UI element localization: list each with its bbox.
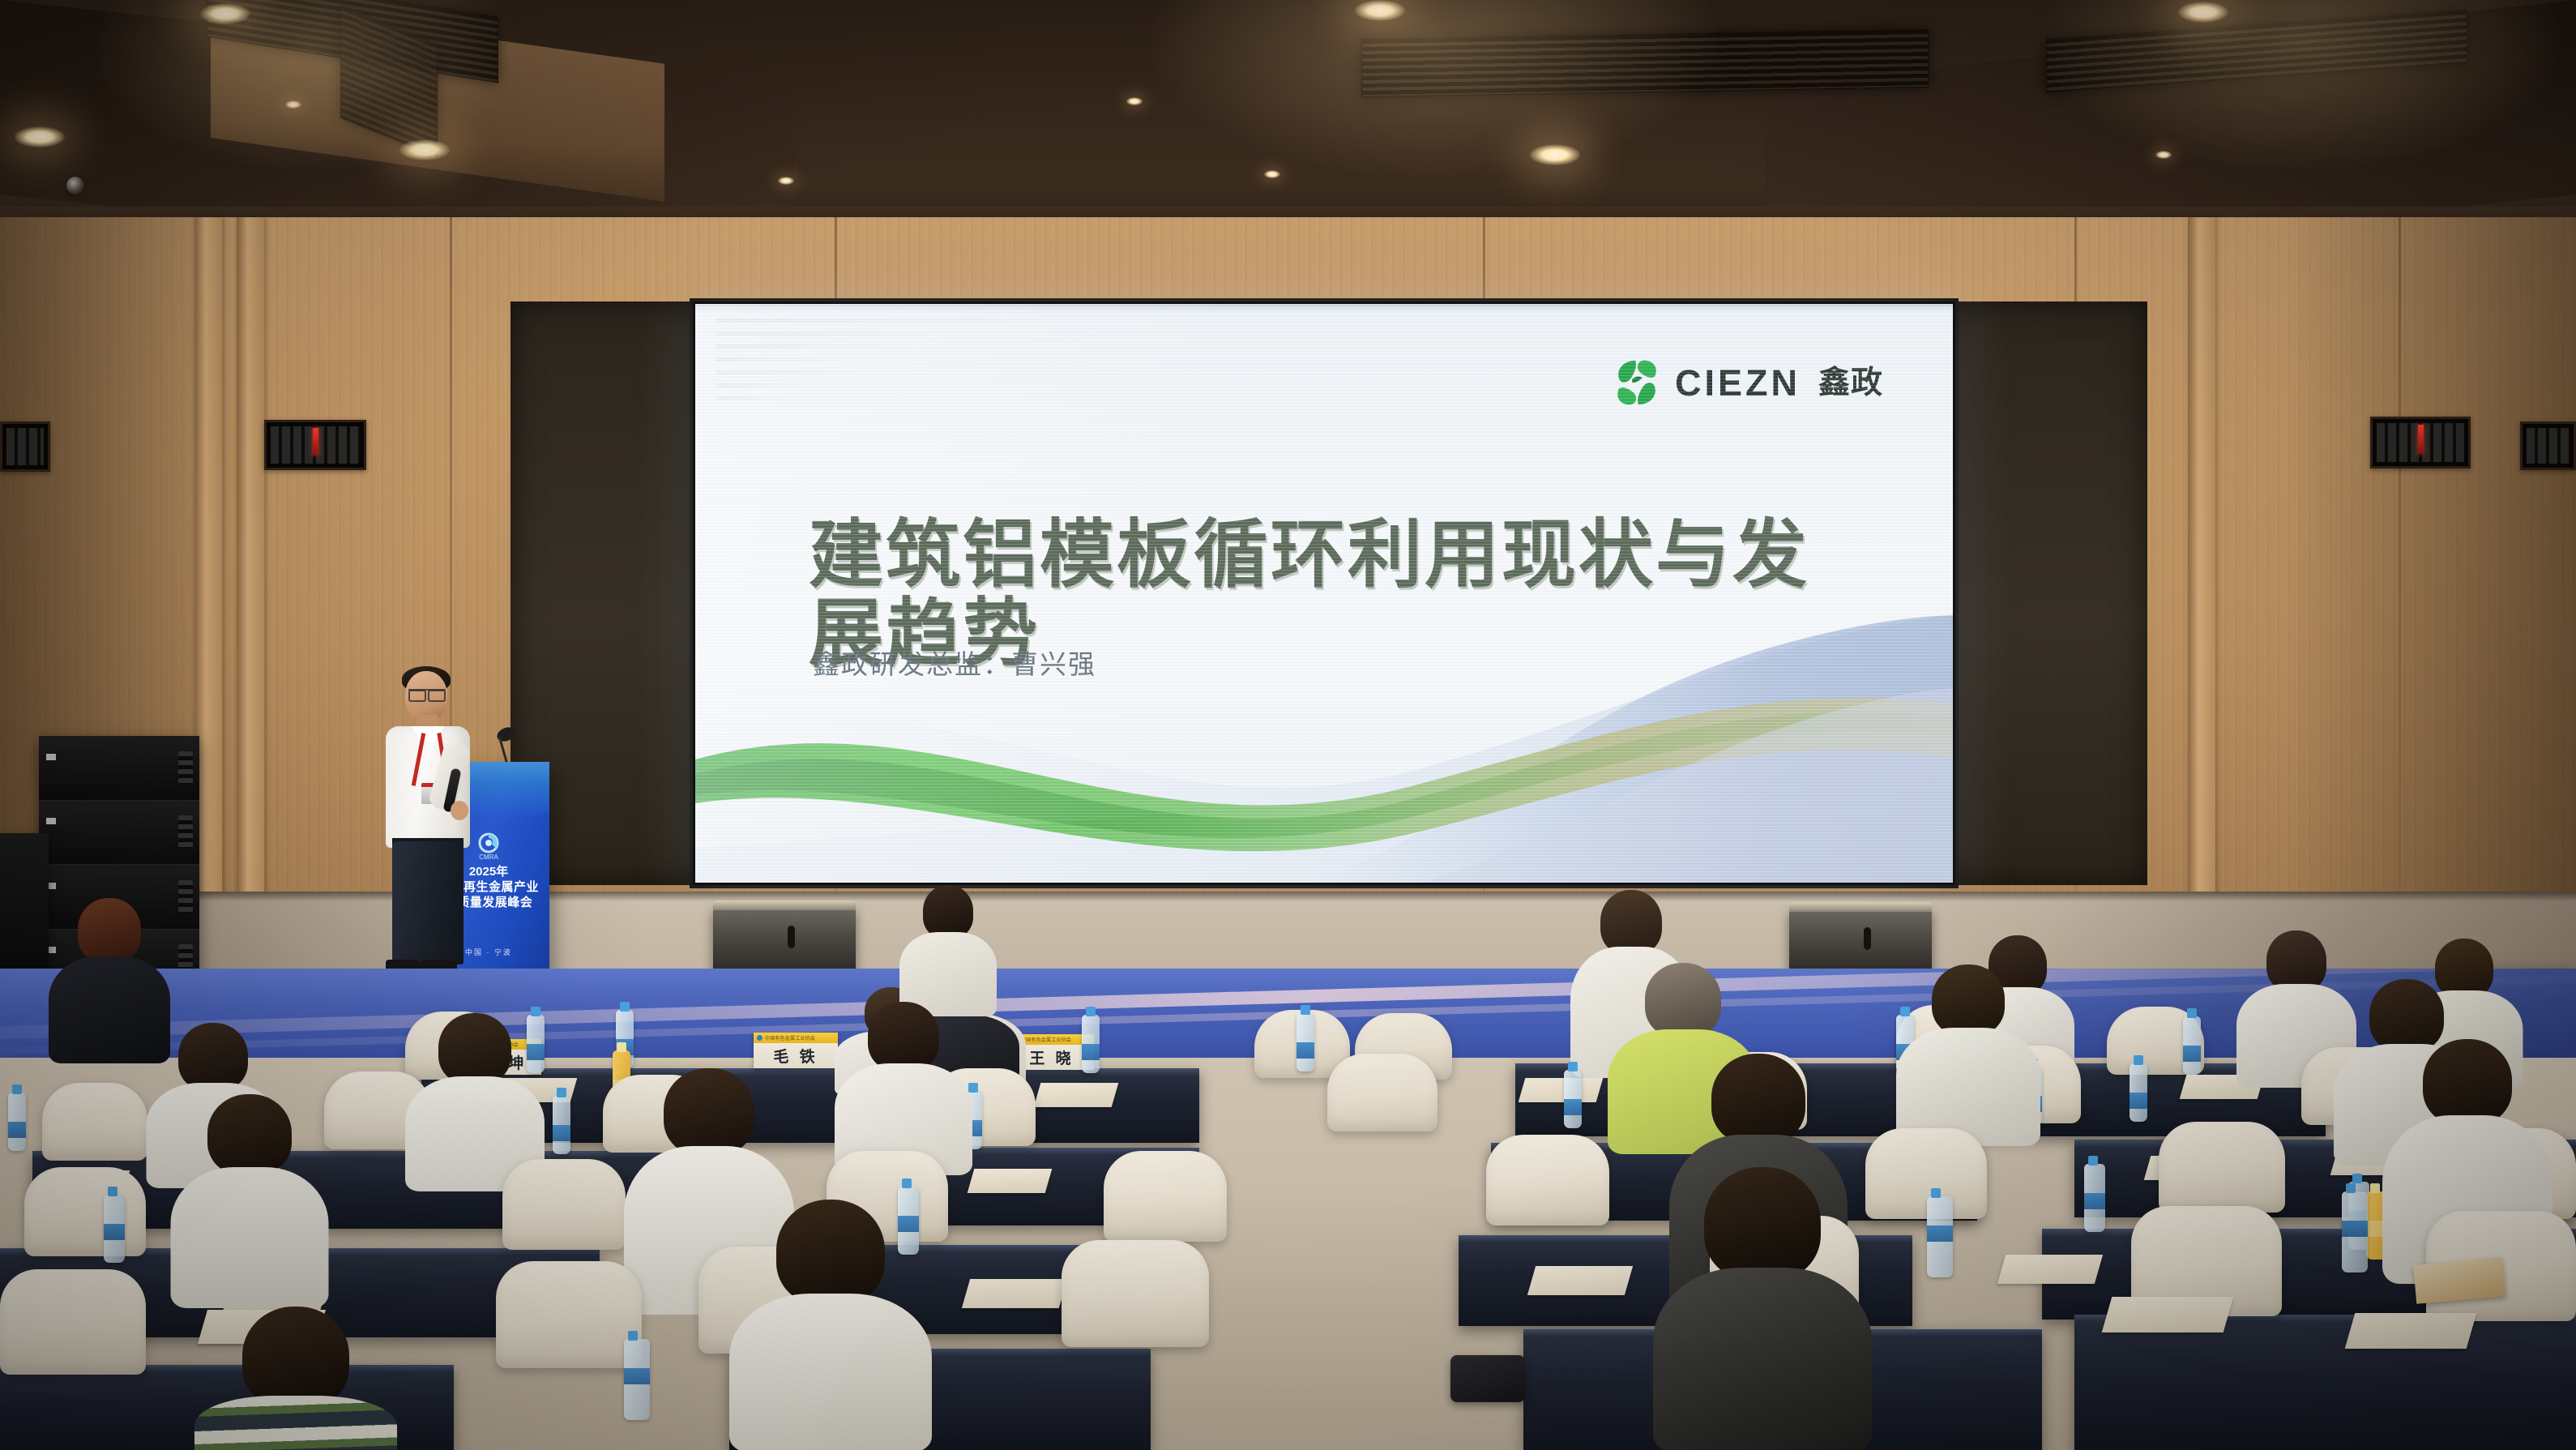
person-head [664, 1068, 754, 1156]
audience-member [49, 898, 170, 1060]
wall-pilaster [237, 217, 264, 924]
water-bottle [1082, 1015, 1100, 1073]
ceiling-downlight [285, 101, 301, 109]
notepad [968, 1169, 1053, 1193]
person-head [438, 1013, 511, 1084]
wedge-handle-slot [788, 926, 795, 949]
person-head [2266, 930, 2326, 992]
wedge-handle-slot [1864, 927, 1871, 951]
notepad [1527, 1266, 1633, 1295]
niche-accent [313, 428, 318, 456]
person-torso [1653, 1268, 1872, 1450]
person-head [868, 1002, 939, 1071]
name-placard: 中国有色金属工业协会 毛 铁 [754, 1033, 838, 1068]
audience-member [1896, 965, 2040, 1143]
person-head [207, 1094, 292, 1175]
wall-shadow-right [2284, 217, 2576, 922]
niche-slats [2527, 428, 2570, 464]
audience-table [2074, 1315, 2576, 1450]
audience-member [835, 1002, 972, 1172]
water-bottle [1927, 1196, 1953, 1277]
ceiling-downlight [200, 3, 250, 24]
ceiling-downlight [778, 177, 794, 185]
water-bottle [2183, 1016, 2201, 1075]
placard-name: 毛 铁 [754, 1045, 838, 1067]
ceiling-downlight [1264, 170, 1280, 178]
audience-member [170, 1094, 328, 1305]
slide-brand-logo: CIEZN 鑫政 [1612, 357, 1883, 408]
conference-hall-scene: CIEZN 鑫政 建筑铝模板循环利用现状与发展趋势 鑫政研发总监：曹兴强 CMR… [0, 0, 2576, 1450]
wall-panel-seam [2399, 217, 2401, 922]
notepad [2102, 1297, 2234, 1332]
dome-camera-icon [66, 177, 84, 195]
person-head [1711, 1054, 1805, 1144]
stage-monitor-wedge [713, 906, 856, 974]
person-torso-striped-polo [194, 1396, 397, 1450]
water-bottle [1297, 1013, 1314, 1071]
slide-surface: CIEZN 鑫政 建筑铝模板循环利用现状与发展趋势 鑫政研发总监：曹兴强 [695, 304, 1953, 883]
ceiling-vent-grille [1361, 29, 1929, 97]
person-head [242, 1307, 349, 1409]
water-bottle [2084, 1164, 2105, 1232]
audience-chair [1486, 1135, 1609, 1225]
ceiling-downlight [2178, 2, 2228, 23]
person-head [178, 1023, 248, 1091]
glasses-icon [408, 689, 446, 698]
person-head [776, 1200, 885, 1305]
person-head [923, 885, 973, 939]
water-bottle [2342, 1191, 2368, 1272]
wall-speaker-niche [264, 420, 366, 470]
presenter [366, 665, 468, 981]
person-torso [49, 956, 170, 1063]
screen-top-bezel-glow [695, 304, 1953, 312]
ceiling-downlight [399, 139, 450, 160]
wall-speaker-niche [0, 421, 50, 472]
person-head [2423, 1039, 2512, 1125]
person-torso [729, 1294, 932, 1450]
wall-speaker-niche [2520, 421, 2576, 470]
audience-member [899, 885, 997, 1015]
screen-led-artifact [716, 319, 1057, 489]
ciezn-pinwheel-logo-icon [1612, 357, 1662, 408]
slide-subtitle: 鑫政研发总监：曹兴强 [813, 643, 1096, 682]
person-head [1600, 890, 1662, 955]
niche-slats [6, 428, 44, 465]
logo-latin-text: CIEZN [1675, 365, 1801, 401]
presentation-screen[interactable]: CIEZN 鑫政 建筑铝模板循环利用现状与发展趋势 鑫政研发总监：曹兴强 [693, 302, 1955, 885]
presenter-hand [451, 801, 468, 820]
ceiling-downlight [1355, 0, 1405, 21]
person-head [1932, 965, 2005, 1036]
audience-chair [1104, 1151, 1227, 1242]
audience-chair [0, 1269, 146, 1375]
water-bottle [2130, 1063, 2147, 1122]
audience-chair [1327, 1054, 1438, 1131]
notepad [1034, 1083, 1119, 1107]
placard-org: 中国有色金属工业协会 [1021, 1036, 1071, 1043]
svg-text:CMRA: CMRA [479, 853, 498, 861]
presenter-trousers [392, 841, 464, 965]
placard-org: 中国有色金属工业协会 [765, 1034, 815, 1042]
wall-pilaster [2188, 217, 2215, 924]
audience-chair [502, 1159, 626, 1250]
person-head [1704, 1167, 1821, 1281]
wall-speaker-niche [2370, 417, 2471, 468]
cmra-logo-icon: CMRA [472, 830, 505, 862]
ceiling-downlight [1530, 144, 1580, 165]
audience-chair [1062, 1240, 1209, 1347]
audience-member [194, 1307, 397, 1450]
logo-chinese-text: 鑫政 [1818, 367, 1883, 399]
notepad [2345, 1313, 2477, 1349]
audience-chair [2159, 1122, 2285, 1213]
conference-booklet [2413, 1257, 2506, 1303]
audience-chair [1865, 1128, 1987, 1219]
audience-chair [496, 1261, 642, 1368]
niche-accent [2418, 425, 2424, 454]
water-bottle [1564, 1070, 1582, 1128]
water-bottle [553, 1096, 570, 1154]
screen-side-panel-right [1953, 302, 2147, 885]
person-head [78, 898, 141, 963]
person-torso [170, 1167, 328, 1308]
water-bottle [624, 1339, 650, 1420]
water-bottle [8, 1093, 26, 1151]
audience-member [729, 1200, 932, 1450]
audience-member [1653, 1167, 1872, 1450]
audience-chair [42, 1083, 147, 1161]
wedge-top-panel [1789, 902, 1932, 912]
notepad [1519, 1078, 1604, 1102]
notepad [962, 1279, 1067, 1308]
notepad [1997, 1255, 2103, 1284]
ceiling-downlight [1126, 97, 1143, 105]
handbag [1450, 1355, 1525, 1402]
wedge-top-panel [713, 900, 856, 910]
person-head [1645, 963, 1721, 1037]
ceiling-downlight [15, 126, 65, 148]
placard-band: 中国有色金属工业协会 [754, 1033, 838, 1043]
ceiling-downlight [2155, 151, 2172, 159]
